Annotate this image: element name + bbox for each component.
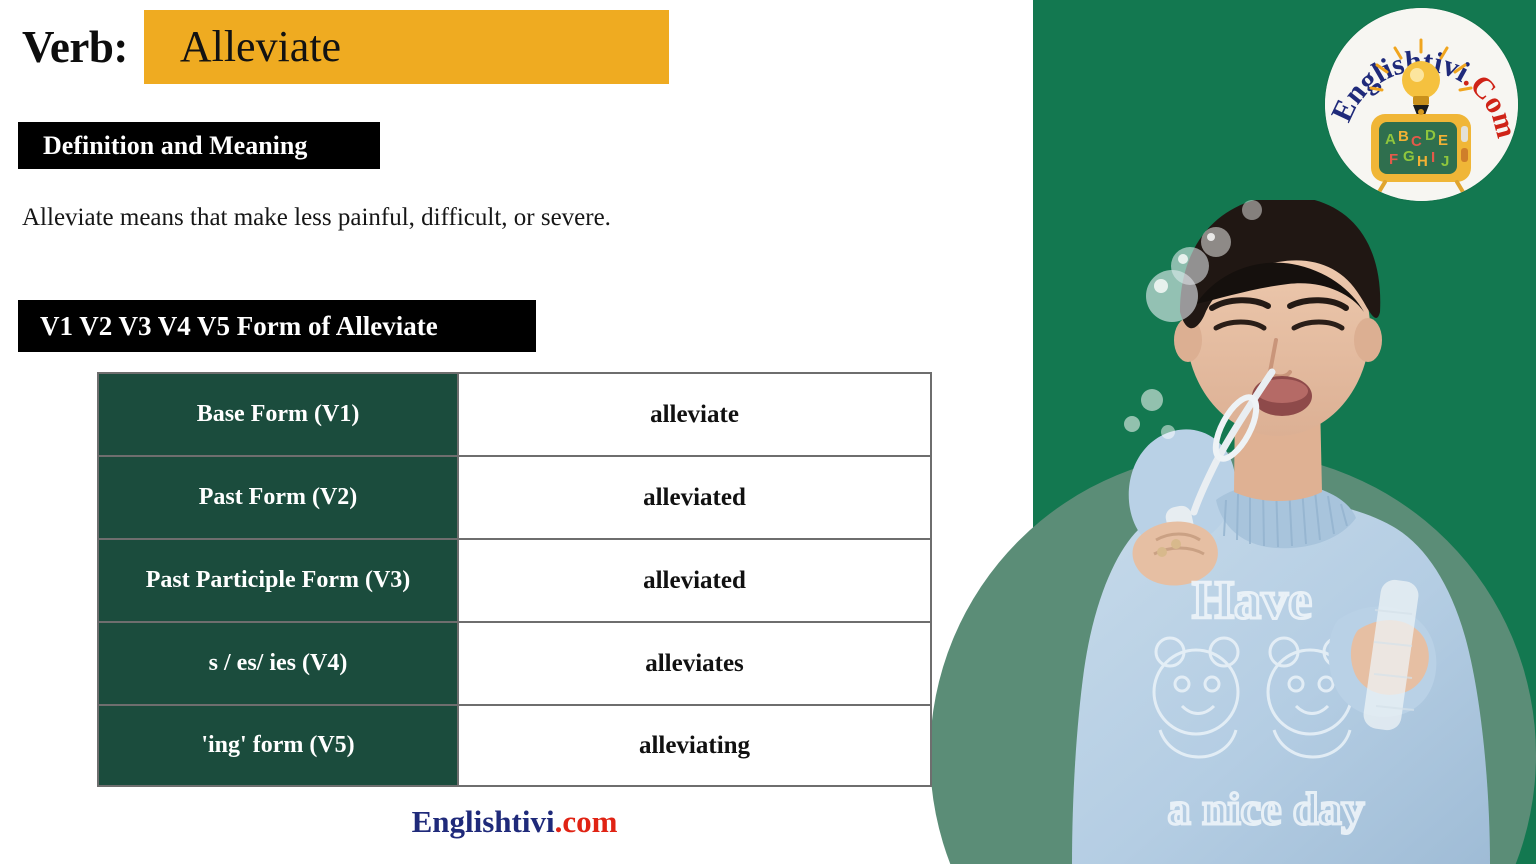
slide-canvas: Have a nice day bbox=[0, 0, 1536, 864]
table-row: s / es/ ies (V4) alleviates bbox=[97, 621, 932, 704]
definition-text: Alleviate means that make less painful, … bbox=[22, 203, 611, 233]
verb-word-highlight: Alleviate bbox=[144, 10, 669, 84]
definition-heading: Definition and Meaning bbox=[18, 122, 380, 169]
verb-forms-table: Base Form (V1) alleviate Past Form (V2) … bbox=[97, 372, 932, 787]
table-row: Past Form (V2) alleviated bbox=[97, 455, 932, 538]
form-label-cell: Past Participle Form (V3) bbox=[97, 538, 458, 621]
table-row: Past Participle Form (V3) alleviated bbox=[97, 538, 932, 621]
form-value-cell: alleviates bbox=[458, 621, 932, 704]
svg-text:F: F bbox=[1389, 151, 1398, 168]
form-label-cell: s / es/ ies (V4) bbox=[97, 621, 458, 704]
verb-title-row: Verb: Alleviate bbox=[22, 10, 669, 84]
verb-label: Verb: bbox=[22, 25, 144, 70]
footer-brand-tld: .com bbox=[555, 804, 618, 839]
englishtivi-logo[interactable]: Englishtivi.Com bbox=[1325, 8, 1518, 201]
svg-text:A: A bbox=[1385, 131, 1396, 148]
svg-text:B: B bbox=[1398, 128, 1409, 145]
form-value-cell: alleviated bbox=[458, 538, 932, 621]
form-value-cell: alleviate bbox=[458, 372, 932, 455]
svg-text:D: D bbox=[1425, 127, 1436, 144]
verb-forms-heading: V1 V2 V3 V4 V5 Form of Alleviate bbox=[18, 300, 536, 352]
form-label-cell: 'ing' form (V5) bbox=[97, 704, 458, 787]
form-label-cell: Past Form (V2) bbox=[97, 455, 458, 538]
form-value-cell: alleviating bbox=[458, 704, 932, 787]
table-row: Base Form (V1) alleviate bbox=[97, 372, 932, 455]
svg-text:E: E bbox=[1438, 132, 1448, 149]
verb-word: Alleviate bbox=[180, 25, 341, 69]
svg-text:a nice day: a nice day bbox=[1168, 783, 1365, 834]
footer-brand: Englishtivi.com bbox=[97, 806, 932, 837]
svg-text:J: J bbox=[1441, 153, 1449, 170]
person-photo: Have a nice day bbox=[1020, 200, 1536, 864]
footer-brand-name: Englishtivi bbox=[412, 804, 555, 839]
svg-text:Have: Have bbox=[1192, 570, 1312, 630]
svg-text:H: H bbox=[1417, 153, 1428, 170]
svg-text:I: I bbox=[1431, 149, 1435, 166]
table-row: 'ing' form (V5) alleviating bbox=[97, 704, 932, 787]
form-label-cell: Base Form (V1) bbox=[97, 372, 458, 455]
svg-text:G: G bbox=[1403, 148, 1415, 165]
form-value-cell: alleviated bbox=[458, 455, 932, 538]
